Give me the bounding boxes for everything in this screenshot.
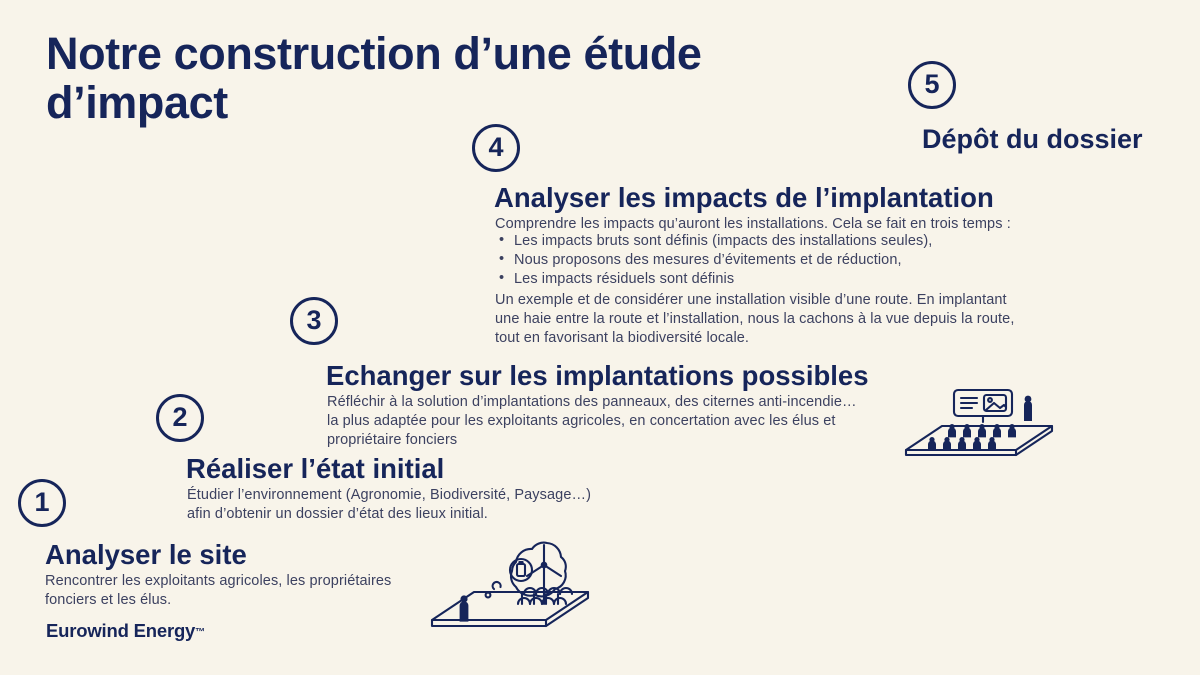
step-2-heading: Réaliser l’état initial [186, 455, 444, 484]
step-number-4: 4 [472, 124, 520, 172]
step-2-body: Étudier l’environnement (Agronomie, Biod… [187, 486, 727, 524]
slide-canvas: Notre construction d’une étude d’impact … [0, 0, 1200, 675]
step-number-1-label: 1 [34, 489, 49, 516]
page-title: Notre construction d’une étude d’impact [46, 30, 756, 127]
step-number-5-label: 5 [924, 71, 939, 98]
step-number-5: 5 [908, 61, 956, 109]
step-5-heading: Dépôt du dossier [922, 125, 1143, 153]
meeting-presentation-illustration [898, 388, 1058, 460]
wind-turbine-planning-illustration [424, 532, 596, 636]
step-number-2-label: 2 [172, 404, 187, 431]
list-item: Nous proposons des mesures d’évitements … [495, 251, 1095, 270]
step-4-bullet-list: Les impacts bruts sont définis (impacts … [495, 232, 1095, 289]
list-item: Les impacts bruts sont définis (impacts … [495, 232, 1095, 251]
step-number-3: 3 [290, 297, 338, 345]
step-4-heading: Analyser les impacts de l’implantation [494, 184, 994, 213]
step-3-body: Réfléchir à la solution d’implantations … [327, 393, 947, 450]
step-number-4-label: 4 [488, 134, 503, 161]
brand-logo: Eurowind Energy™ [46, 620, 205, 642]
step-number-3-label: 3 [306, 307, 321, 334]
list-item: Les impacts résiduels sont définis [495, 270, 1095, 289]
step-3-heading: Echanger sur les implantations possibles [326, 362, 869, 391]
brand-logo-name: Eurowind Energy [46, 620, 195, 641]
step-4-body-secondary: Un exemple et de considérer une installa… [495, 291, 1095, 348]
step-number-1: 1 [18, 479, 66, 527]
trademark-icon: ™ [195, 627, 205, 638]
step-1-heading: Analyser le site [45, 541, 247, 570]
step-number-2: 2 [156, 394, 204, 442]
step-1-body: Rencontrer les exploitants agricoles, le… [45, 572, 485, 610]
